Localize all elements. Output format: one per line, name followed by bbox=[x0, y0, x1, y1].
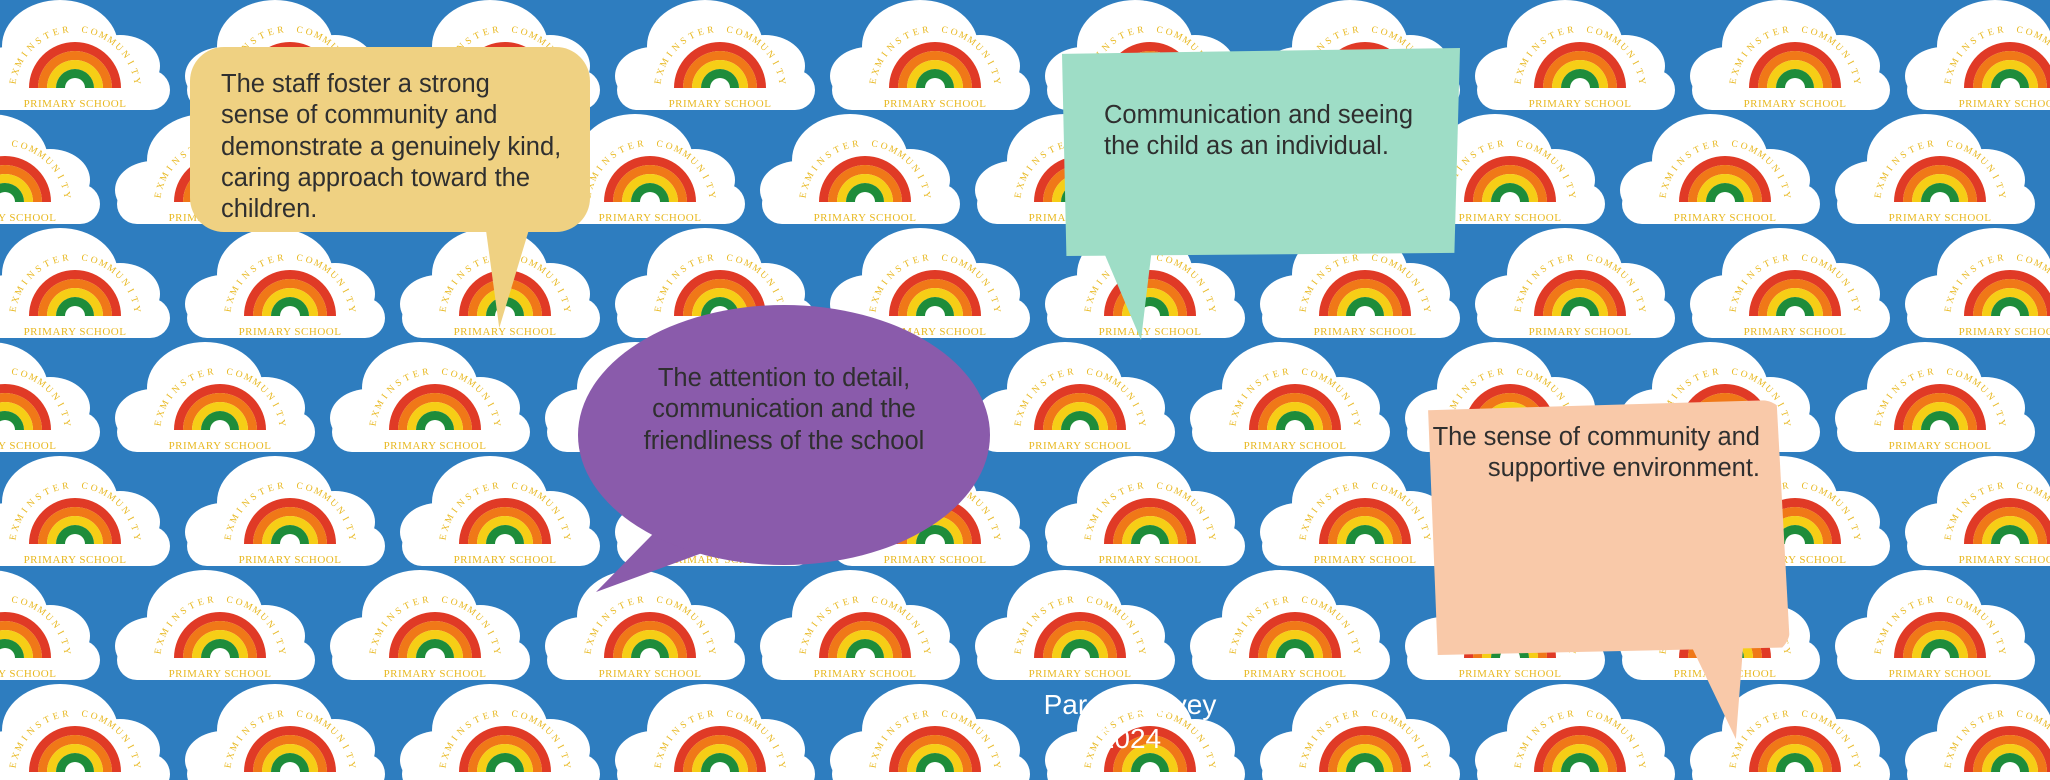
quote-bubble-yellow: The staff foster a strong sense of commu… bbox=[190, 47, 590, 232]
school-logo-cloud-icon: EXMINSTER COMMUNITYPRIMARY SCHOOL bbox=[175, 668, 405, 780]
school-logo-cloud-icon: EXMINSTER COMMUNITYPRIMARY SCHOOL bbox=[605, 668, 835, 780]
quote-bubble-green: Communication and seeing the child as an… bbox=[1060, 48, 1460, 256]
school-logo-cloud-icon: EXMINSTER COMMUNITYPRIMARY SCHOOL bbox=[1465, 668, 1695, 780]
quote-text: The sense of community and supportive en… bbox=[1405, 400, 1790, 485]
quote-text: Communication and seeing the child as an… bbox=[1060, 48, 1460, 163]
quote-bubble-peach: The sense of community and supportive en… bbox=[1405, 400, 1790, 655]
school-logo-cloud-icon: EXMINSTER COMMUNITYPRIMARY SCHOOL bbox=[1250, 668, 1480, 780]
quote-bubble-purple: The attention to detail, communication a… bbox=[578, 305, 990, 565]
quote-text: The attention to detail, communication a… bbox=[578, 305, 990, 457]
school-logo-cloud-icon: EXMINSTER COMMUNITYPRIMARY SCHOOL bbox=[0, 668, 190, 780]
survey-caption: Parent survey 2024 bbox=[1000, 688, 1260, 755]
school-logo-cloud-icon: EXMINSTER COMMUNITYPRIMARY SCHOOL bbox=[390, 668, 620, 780]
quote-text: The staff foster a strong sense of commu… bbox=[190, 47, 590, 226]
school-logo-cloud-icon: EXMINSTER COMMUNITYPRIMARY SCHOOL bbox=[1895, 668, 2050, 780]
parent-survey-banner: EXMINSTER COMMUNITYPRIMARY SCHOOLEXMINST… bbox=[0, 0, 2050, 780]
